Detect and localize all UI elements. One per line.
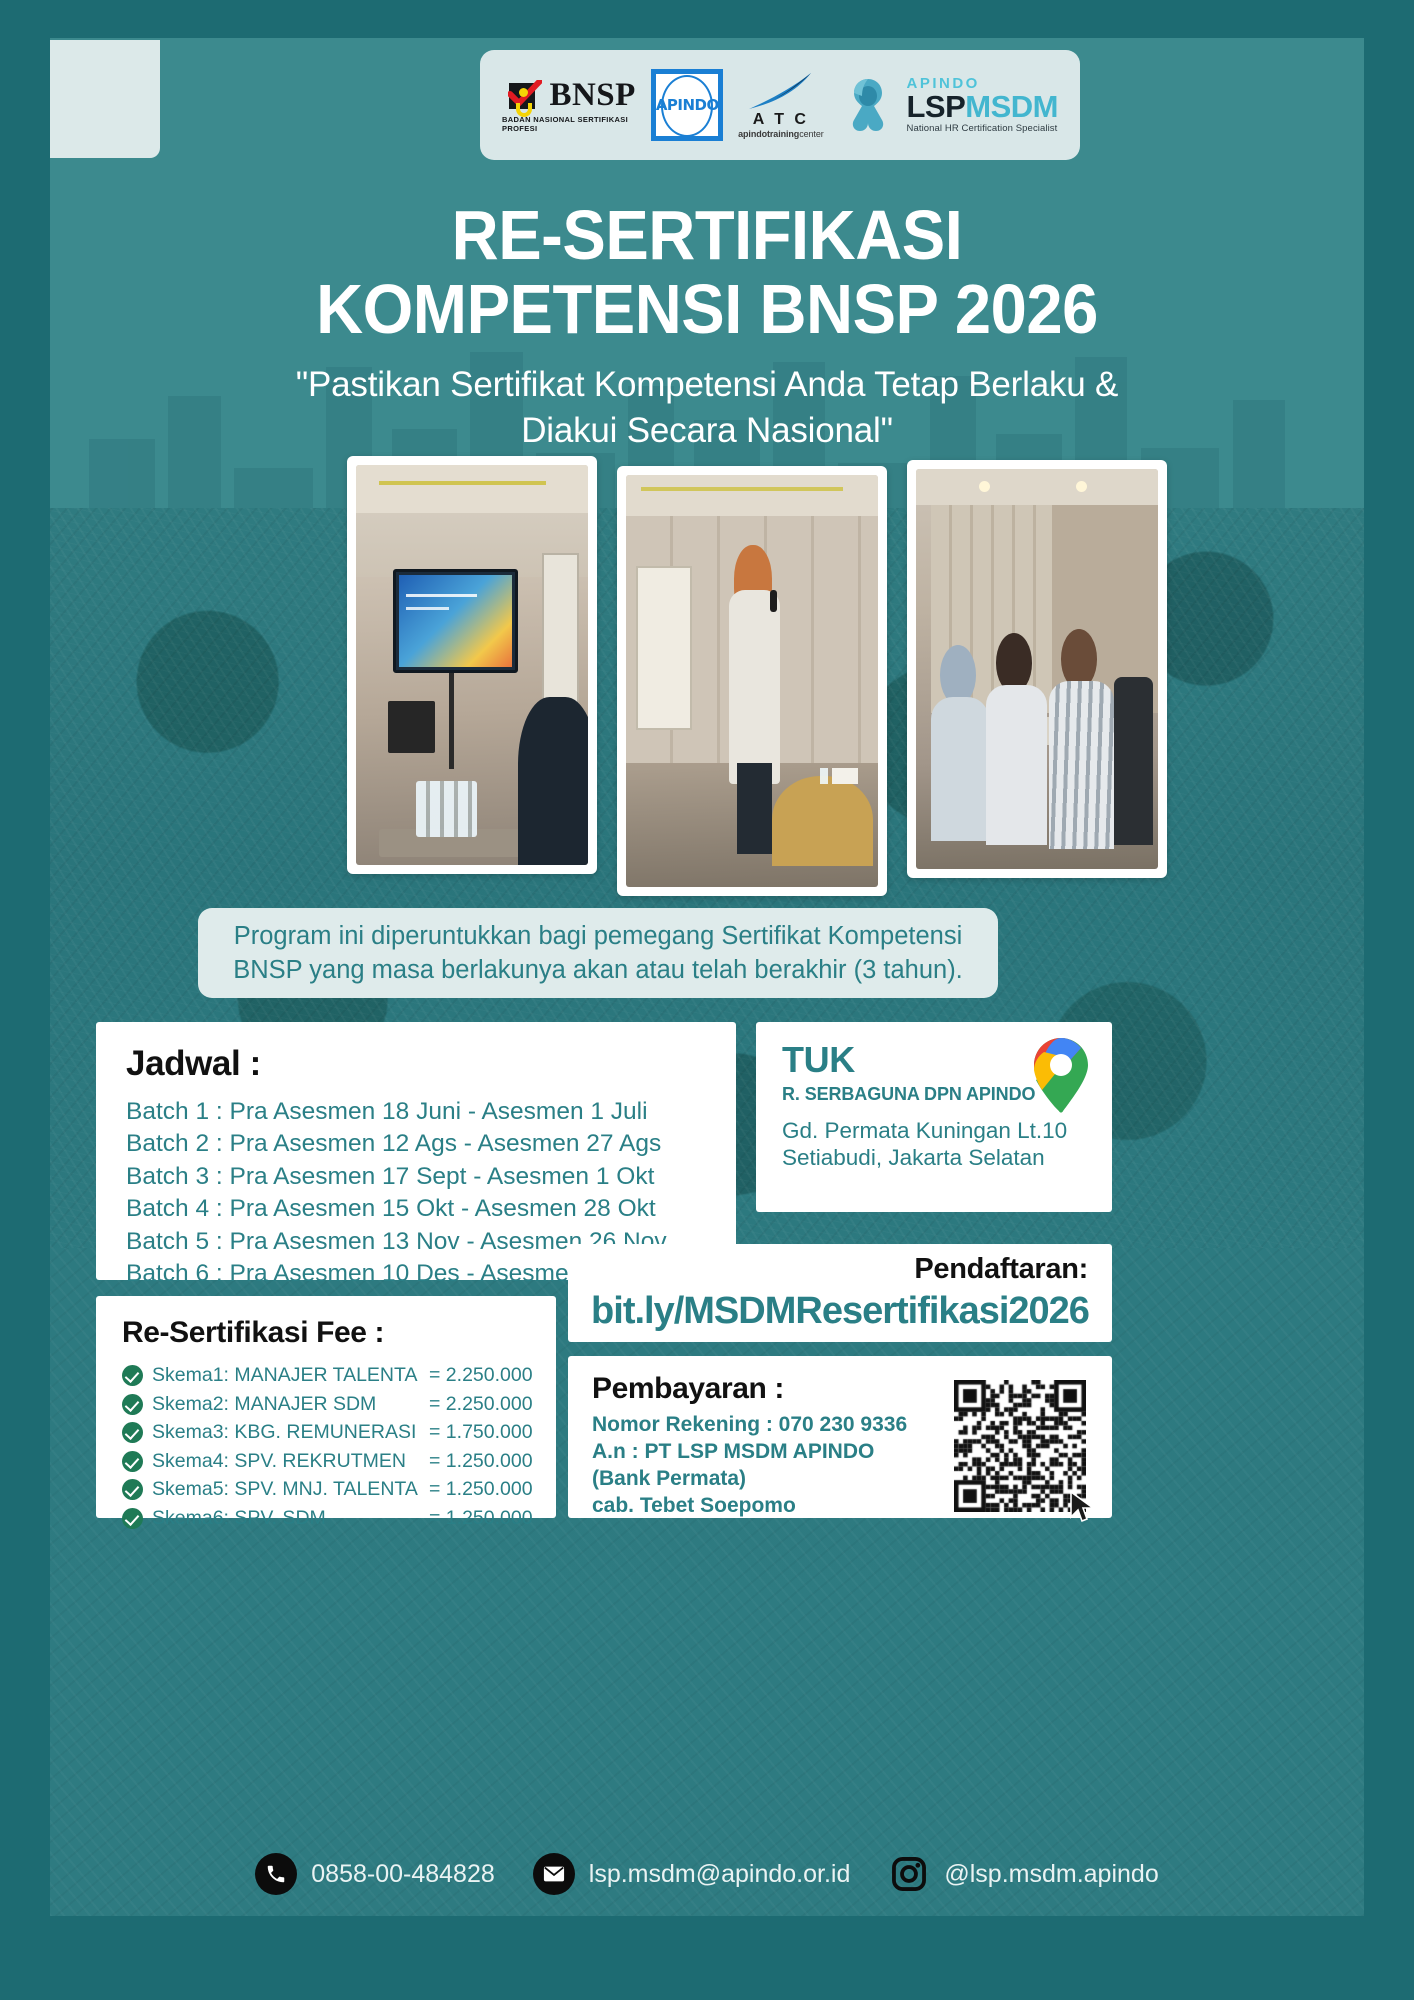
venue-address-line-1: Gd. Permata Kuningan Lt.10 xyxy=(782,1117,1090,1144)
check-icon xyxy=(122,1422,143,1443)
google-maps-pin-icon xyxy=(1028,1036,1094,1114)
program-note-text: Program ini diperuntukkan bagi pemegang … xyxy=(226,919,970,987)
fee-scheme-price: = 1.250.000 xyxy=(429,1507,533,1530)
fee-scheme-name: Skema2: MANAJER SDM xyxy=(152,1393,420,1416)
photo-audience xyxy=(907,460,1167,878)
schedule-card: Jadwal : Batch 1 : Pra Asesmen 18 Juni -… xyxy=(96,1022,736,1280)
schedule-row: Batch 1 : Pra Asesmen 18 Juni - Asesmen … xyxy=(126,1098,736,1125)
fee-scheme-name: Skema4: SPV. REKRUTMEN xyxy=(152,1450,420,1473)
subtitle-line-1: "Pastikan Sertifikat Kompetensi Anda Tet… xyxy=(50,362,1364,408)
bnsp-logo: BNSP BADAN NASIONAL SERTIFIKASI PROFESI xyxy=(502,78,641,133)
logo-bar: BNSP BADAN NASIONAL SERTIFIKASI PROFESI … xyxy=(480,50,1080,160)
contact-instagram[interactable]: @lsp.msdm.apindo xyxy=(888,1853,1158,1895)
poster-inner: BNSP BADAN NASIONAL SERTIFIKASI PROFESI … xyxy=(50,38,1364,1916)
venue-address-line-2: Setiabudi, Jakarta Selatan xyxy=(782,1144,1090,1171)
contact-footer: 0858-00-484828 lsp.msdm@apindo.or.id @ls… xyxy=(50,1832,1364,1916)
check-icon xyxy=(122,1451,143,1472)
fee-scheme-name: Skema5: SPV. MNJ. TALENTA xyxy=(152,1478,420,1501)
email-text: lsp.msdm@apindo.or.id xyxy=(589,1860,851,1889)
qr-code[interactable] xyxy=(954,1380,1086,1512)
bnsp-wordmark: BNSP xyxy=(549,79,635,112)
photo-presentation-screen xyxy=(347,456,597,874)
check-icon xyxy=(122,1508,143,1529)
venue-card: TUK R. SERBAGUNA DPN APINDO Gd. Permata … xyxy=(756,1022,1112,1212)
email-icon xyxy=(533,1853,575,1895)
poster-canvas: BNSP BADAN NASIONAL SERTIFIKASI PROFESI … xyxy=(0,0,1414,2000)
check-icon xyxy=(122,1479,143,1500)
fee-row: Skema1: MANAJER TALENTA = 2.250.000 xyxy=(122,1364,556,1387)
registration-card: Pendaftaran: bit.ly/MSDMResertifikasi202… xyxy=(568,1244,1112,1342)
bnsp-mark-icon xyxy=(507,78,543,114)
program-note-box: Program ini diperuntukkan bagi pemegang … xyxy=(198,908,998,998)
payment-card: Pembayaran : Nomor Rekening : 070 230 93… xyxy=(568,1356,1112,1518)
venue-address: Gd. Permata Kuningan Lt.10 Setiabudi, Ja… xyxy=(782,1117,1090,1172)
fee-row: Skema5: SPV. MNJ. TALENTA = 1.250.000 xyxy=(122,1478,556,1501)
subtitle-line-2: Diakui Secara Nasional" xyxy=(50,408,1364,454)
mouse-cursor-icon xyxy=(1068,1490,1098,1524)
schedule-row: Batch 4 : Pra Asesmen 15 Okt - Asesmen 2… xyxy=(126,1195,736,1222)
fee-scheme-name: Skema3: KBG. REMUNERASI xyxy=(152,1421,420,1444)
phone-text: 0858-00-484828 xyxy=(311,1860,495,1889)
registration-link[interactable]: bit.ly/MSDMResertifikasi2026 xyxy=(591,1290,1089,1333)
atc-swoosh-icon xyxy=(745,71,817,111)
phone-icon xyxy=(255,1853,297,1895)
schedule-heading: Jadwal : xyxy=(126,1044,736,1084)
instagram-icon xyxy=(888,1853,930,1895)
atc-tagline: apindotrainingcenter xyxy=(738,129,824,139)
fee-scheme-name: Skema1: MANAJER TALENTA xyxy=(152,1364,420,1387)
contact-phone[interactable]: 0858-00-484828 xyxy=(255,1853,495,1895)
contact-email[interactable]: lsp.msdm@apindo.or.id xyxy=(533,1853,851,1895)
fee-scheme-price: = 1.250.000 xyxy=(429,1450,533,1473)
fee-row: Skema3: KBG. REMUNERASI = 1.750.000 xyxy=(122,1421,556,1444)
page-title: RE-SERTIFIKASI KOMPETENSI BNSP 2026 xyxy=(96,198,1318,346)
bnsp-tagline: BADAN NASIONAL SERTIFIKASI PROFESI xyxy=(502,115,641,133)
atc-wordmark: A T C xyxy=(753,111,809,129)
lsp-msdm-mark-icon xyxy=(838,76,898,134)
title-line-2: KOMPETENSI BNSP 2026 xyxy=(96,272,1318,346)
instagram-text: @lsp.msdm.apindo xyxy=(944,1860,1158,1889)
lsp-msdm-logo: APINDO LSPMSDM National HR Certification… xyxy=(838,76,1058,134)
fee-scheme-price: = 1.250.000 xyxy=(429,1478,533,1501)
page-subtitle: "Pastikan Sertifikat Kompetensi Anda Tet… xyxy=(50,362,1364,454)
apindo-wordmark: APINDO xyxy=(656,96,719,114)
fee-row: Skema2: MANAJER SDM = 2.250.000 xyxy=(122,1393,556,1416)
check-icon xyxy=(122,1365,143,1386)
atc-logo: A T C apindotrainingcenter xyxy=(733,71,828,139)
title-line-1: RE-SERTIFIKASI xyxy=(452,196,963,274)
fee-scheme-name: Skema6: SPV. SDM xyxy=(152,1507,420,1530)
fee-row: Skema6: SPV. SDM = 1.250.000 xyxy=(122,1507,556,1530)
lsp-msdm-wordmark: LSPMSDM xyxy=(906,91,1058,122)
registration-heading: Pendaftaran: xyxy=(914,1253,1088,1286)
fee-row: Skema4: SPV. REKRUTMEN = 1.250.000 xyxy=(122,1450,556,1473)
fee-scheme-price: = 1.750.000 xyxy=(429,1421,533,1444)
check-icon xyxy=(122,1394,143,1415)
fee-scheme-price: = 2.250.000 xyxy=(429,1364,533,1387)
photo-speaker xyxy=(617,466,887,896)
schedule-row: Batch 2 : Pra Asesmen 12 Ags - Asesmen 2… xyxy=(126,1130,736,1157)
fee-card: Re-Sertifikasi Fee : Skema1: MANAJER TAL… xyxy=(96,1296,556,1518)
photo-gallery xyxy=(190,456,1324,886)
decorative-corner-tab xyxy=(50,40,160,158)
fee-heading: Re-Sertifikasi Fee : xyxy=(122,1316,556,1350)
fee-scheme-price: = 2.250.000 xyxy=(429,1393,533,1416)
apindo-logo: APINDO xyxy=(651,69,723,141)
schedule-row: Batch 3 : Pra Asesmen 17 Sept - Asesmen … xyxy=(126,1163,736,1190)
lsp-tagline: National HR Certification Specialist xyxy=(906,124,1058,134)
